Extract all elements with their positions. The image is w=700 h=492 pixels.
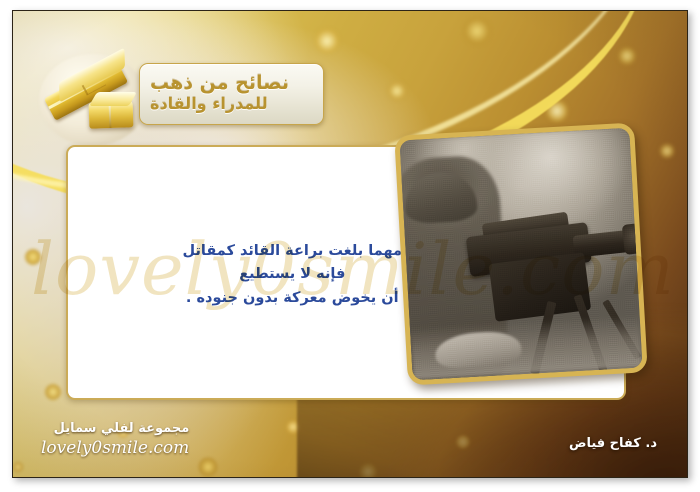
title-plaque: نصائح من ذهب للمدراء والقادة [139,63,324,125]
quote-line-1: مهما بلغت براعة القائد كمقاتل [183,240,402,263]
quote-line-3: أن يخوض معركة بدون جنوده . [183,287,402,310]
poster-canvas: نصائح من ذهب للمدراء والقادة مهما بلغت ب… [12,10,688,478]
machine-gun-photo [394,122,648,385]
footer-site-url: lovely0smile.com [41,438,189,459]
quote-text-block: مهما بلغت براعة القائد كمقاتل فإنه لا يس… [183,240,402,310]
photo-inner [399,128,642,380]
title-line-secondary: للمدراء والقادة [150,95,268,114]
footer-author: د. كفاح فياض [569,436,657,451]
quote-line-2: فإنه لا يستطيع [183,263,402,286]
title-line-primary: نصائح من ذهب [150,72,289,94]
poster-page: نصائح من ذهب للمدراء والقادة مهما بلغت ب… [0,0,700,492]
gold-bars-icon [39,54,147,146]
photo-film-grain [399,128,642,380]
footer-brand: مجموعة لفلي سمايل lovely0smile.com [41,421,189,460]
gold-bar-front-top [89,92,137,106]
footer-group-name: مجموعة لفلي سمايل [41,421,189,437]
